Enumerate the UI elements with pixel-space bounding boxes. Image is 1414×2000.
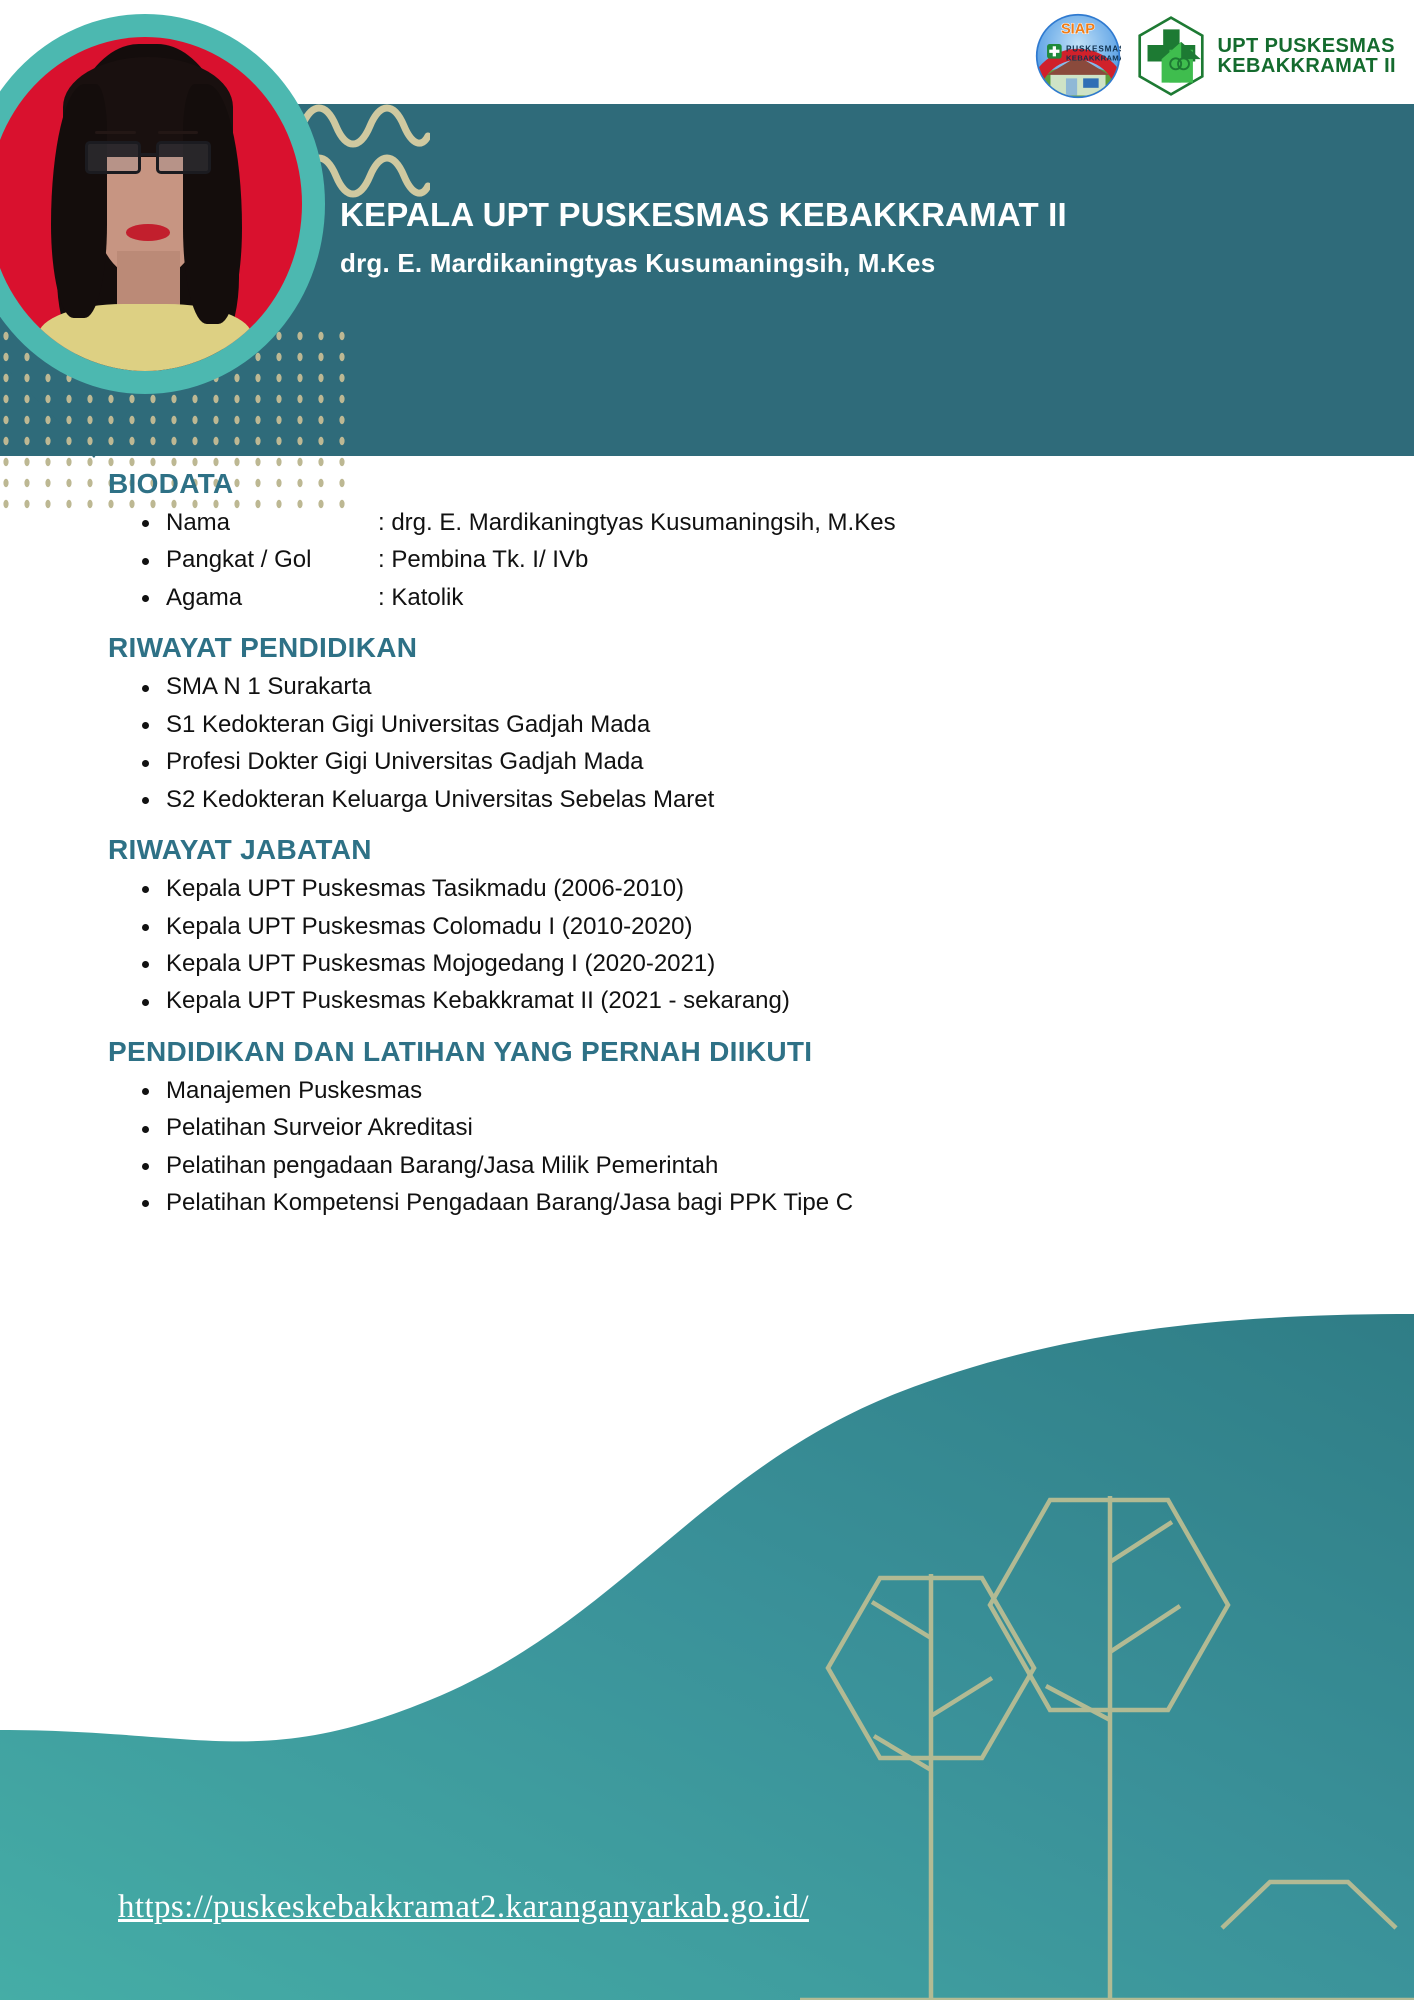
section-riwayat-pendidikan: RIWAYAT PENDIDIKAN SMA N 1 Surakarta S1 … [108,632,1308,818]
page-subtitle: drg. E. Mardikaningtyas Kusumaningsih, M… [340,248,1370,279]
logo-group: SIAP PUSKESMAS KEBAKKRAMAT 2 UPT PUSKESM… [1035,10,1396,102]
eyeglasses [85,141,211,174]
list-item: Agama : Katolik [130,579,1308,616]
siap-puskesmas-seal-logo: SIAP PUSKESMAS KEBAKKRAMAT 2 [1035,13,1121,99]
list-item: Profesi Dokter Gigi Universitas Gadjah M… [130,743,1308,780]
biodata-value: : drg. E. Mardikaningtyas Kusumaningsih,… [378,504,1308,541]
list-item: Kepala UPT Puskesmas Tasikmadu (2006-201… [130,870,1308,907]
biodata-value: : Pembina Tk. I/ IVb [378,541,1308,578]
list-item: SMA N 1 Surakarta [130,668,1308,705]
content-area: BIODATA Nama : drg. E. Mardikaningtyas K… [108,468,1308,1238]
pendidikan-latihan-list: Manajemen Puskesmas Pelatihan Surveior A… [130,1072,1308,1222]
list-item: Nama : drg. E. Mardikaningtyas Kusumanin… [130,504,1308,541]
list-item: Pangkat / Gol : Pembina Tk. I/ IVb [130,541,1308,578]
riwayat-pendidikan-list: SMA N 1 Surakarta S1 Kedokteran Gigi Uni… [130,668,1308,818]
svg-text:KEBAKKRAMAT 2: KEBAKKRAMAT 2 [1066,53,1121,62]
riwayat-jabatan-list: Kepala UPT Puskesmas Tasikmadu (2006-201… [130,870,1308,1020]
upt-logo-line1: UPT PUSKESMAS [1217,36,1396,56]
list-item: Pelatihan pengadaan Barang/Jasa Milik Pe… [130,1147,1308,1184]
green-cross-house-icon [1135,15,1207,97]
list-item: Manajemen Puskesmas [130,1072,1308,1109]
list-item: Kepala UPT Puskesmas Mojogedang I (2020-… [130,945,1308,982]
svg-text:PUSKESMAS: PUSKESMAS [1066,45,1121,54]
website-link[interactable]: https://puskeskebakkramat2.karanganyarka… [118,1889,809,1925]
section-title-riwayat-pendidikan: RIWAYAT PENDIDIKAN [108,632,1308,664]
list-item: Kepala UPT Puskesmas Kebakkramat II (202… [130,982,1308,1019]
upt-puskesmas-logo: UPT PUSKESMAS KEBAKKRAMAT II [1135,15,1396,97]
page-title: KEPALA UPT PUSKESMAS KEBAKKRAMAT II [340,196,1370,234]
header-text-block: KEPALA UPT PUSKESMAS KEBAKKRAMAT II drg.… [340,196,1370,279]
biodata-key: Pangkat / Gol [166,541,378,578]
section-riwayat-jabatan: RIWAYAT JABATAN Kepala UPT Puskesmas Tas… [108,834,1308,1020]
list-item: Pelatihan Surveior Akreditasi [130,1109,1308,1146]
biodata-key: Nama [166,504,378,541]
biodata-list: Nama : drg. E. Mardikaningtyas Kusumanin… [130,504,1308,616]
portrait-photo [0,37,302,371]
list-item: Kepala UPT Puskesmas Colomadu I (2010-20… [130,908,1308,945]
footer-url-wrapper: https://puskeskebakkramat2.karanganyarka… [0,1889,1414,1926]
biodata-key: Agama [166,579,378,616]
section-biodata: BIODATA Nama : drg. E. Mardikaningtyas K… [108,468,1308,616]
biodata-value: : Katolik [378,579,1308,616]
list-item: S2 Kedokteran Keluarga Universitas Sebel… [130,781,1308,818]
section-title-riwayat-jabatan: RIWAYAT JABATAN [108,834,1308,866]
section-pendidikan-latihan: PENDIDIKAN DAN LATIHAN YANG PERNAH DIIKU… [108,1036,1308,1222]
section-title-biodata: BIODATA [108,468,1308,500]
section-title-pendidikan-latihan: PENDIDIKAN DAN LATIHAN YANG PERNAH DIIKU… [108,1036,1308,1068]
upt-logo-line2: KEBAKKRAMAT II [1217,56,1396,76]
siap-word: SIAP [1061,22,1095,38]
list-item: S1 Kedokteran Gigi Universitas Gadjah Ma… [130,706,1308,743]
list-item: Pelatihan Kompetensi Pengadaan Barang/Ja… [130,1184,1308,1221]
